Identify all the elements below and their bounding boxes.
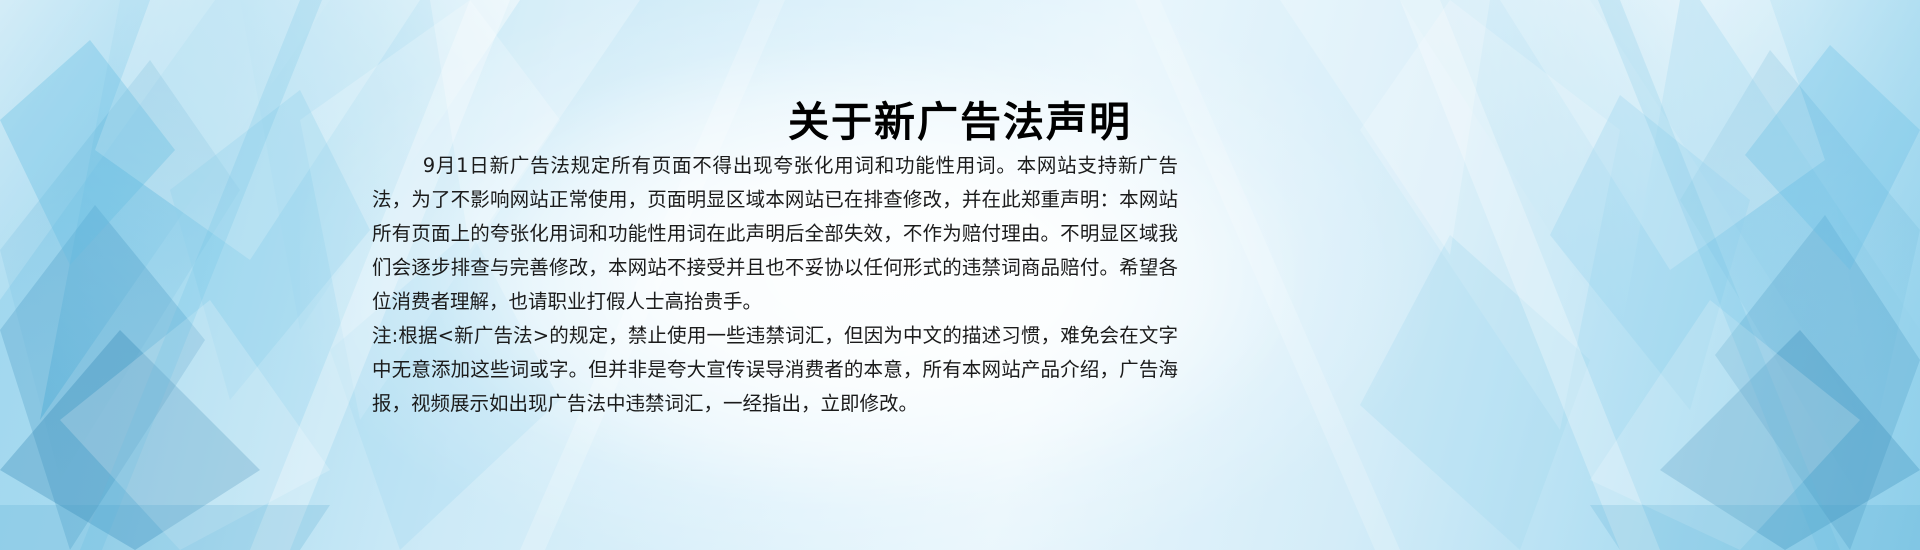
statement-body: 9月1日新广告法规定所有页面不得出现夸张化用词和功能性用词。本网站支持新广告法，… — [372, 149, 1178, 421]
statement-paragraph-main: 9月1日新广告法规定所有页面不得出现夸张化用词和功能性用词。本网站支持新广告法，… — [372, 149, 1178, 319]
statement-paragraph-note: 注:根据<新广告法>的规定，禁止使用一些违禁词汇，但因为中文的描述习惯，难免会在… — [372, 319, 1178, 421]
statement-content: 关于新广告法声明 9月1日新广告法规定所有页面不得出现夸张化用词和功能性用词。本… — [0, 0, 1920, 550]
advertising-law-statement-banner: 关于新广告法声明 9月1日新广告法规定所有页面不得出现夸张化用词和功能性用词。本… — [0, 0, 1920, 550]
page-title: 关于新广告法声明 — [0, 88, 1920, 148]
